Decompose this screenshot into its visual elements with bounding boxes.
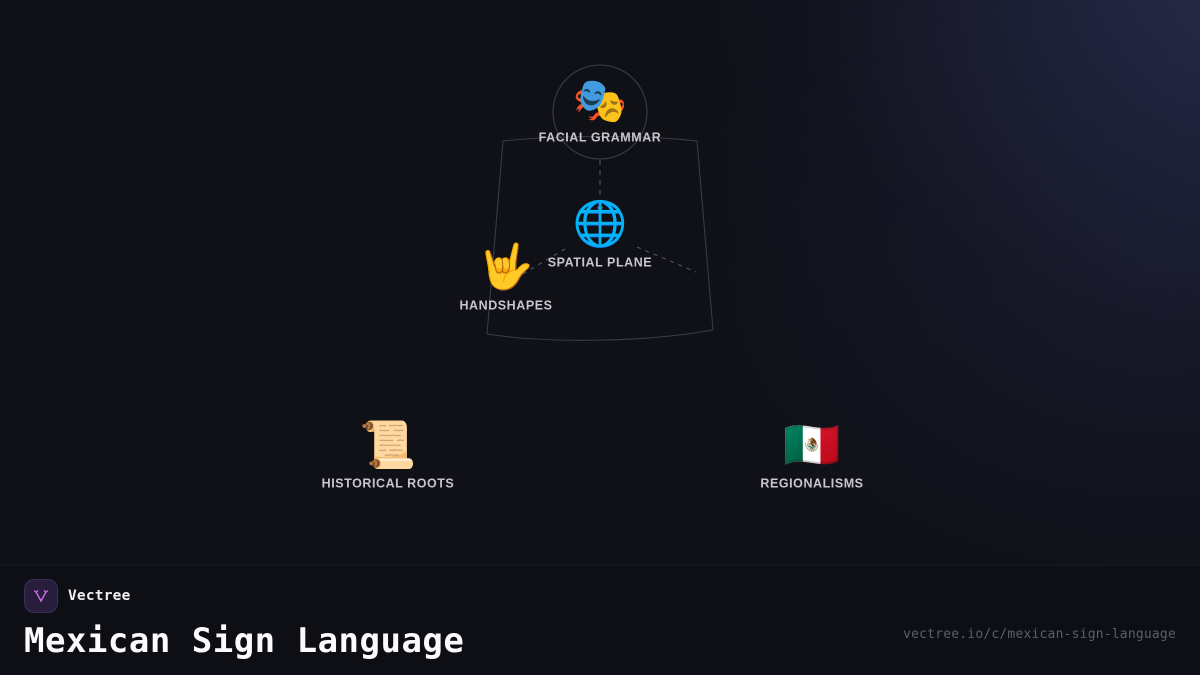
- brand-name: Vectree: [68, 588, 131, 604]
- flag-mexico-emoji: 🇲🇽: [783, 422, 840, 468]
- graph-node-label: HANDSHAPES: [459, 299, 552, 313]
- page-title: Mexican Sign Language: [24, 621, 464, 661]
- brand-row[interactable]: Vectree: [24, 579, 131, 613]
- graph-node-historical-roots[interactable]: 📜 HISTORICAL ROOTS: [278, 422, 498, 491]
- knowledge-graph-canvas[interactable]: 🎭 FACIAL GRAMMAR 🌐 SPATIAL PLANE 🤟 HANDS…: [0, 0, 1200, 560]
- footer-bar: Vectree Mexican Sign Language vectree.io…: [0, 565, 1200, 675]
- love-you-gesture-hand-emoji: 🤟: [479, 246, 534, 290]
- graph-node-facial-grammar[interactable]: 🎭 FACIAL GRAMMAR: [490, 80, 710, 145]
- performing-arts-masks-emoji: 🎭: [573, 80, 628, 124]
- vectree-v-logo-icon: [24, 579, 58, 613]
- graph-node-label: REGIONALISMS: [760, 477, 863, 491]
- scroll-emoji: 📜: [359, 422, 416, 468]
- footer-url: vectree.io/c/mexican-sign-language: [903, 627, 1176, 642]
- graph-node-label: HISTORICAL ROOTS: [322, 477, 455, 491]
- graph-node-handshapes[interactable]: 🤟 HANDSHAPES: [396, 246, 616, 313]
- graph-node-label: FACIAL GRAMMAR: [539, 131, 662, 145]
- graph-node-regionalisms[interactable]: 🇲🇽 REGIONALISMS: [702, 422, 922, 491]
- globe-with-meridians-emoji: 🌐: [573, 203, 628, 247]
